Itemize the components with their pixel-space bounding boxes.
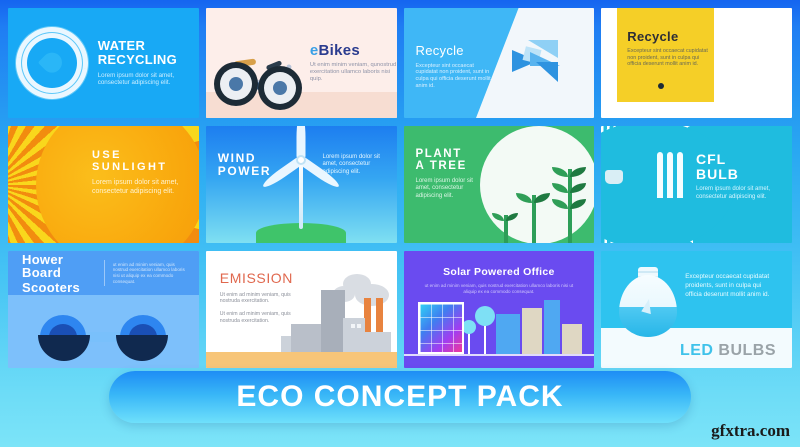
card-body: ut enim ad minim veniam, quis nostrud ex… bbox=[418, 283, 581, 294]
card-emission[interactable]: EMISSION Ut enim ad minim veniam, quis n… bbox=[206, 251, 397, 368]
card-title: eBikes bbox=[310, 43, 397, 59]
card-header-bar: Hower BoardScooters ut enim ad minim ven… bbox=[8, 251, 199, 295]
card-title-prefix: e bbox=[310, 42, 319, 59]
card-led-bulbs[interactable]: Excepteur occaecat cupidatat proidents, … bbox=[601, 251, 792, 368]
card-title: Solar Powered Office bbox=[404, 267, 595, 278]
card-text: WATERRECYCLING Lorem ipsum dolor sit ame… bbox=[96, 39, 177, 86]
card-text: EMISSION Ut enim ad minim veniam, quis n… bbox=[220, 271, 306, 324]
card-use-sunlight[interactable]: USESUNLIGHT Lorem ipsum dolor sit amet, … bbox=[8, 126, 199, 243]
banner-title: ECO CONCEPT PACK bbox=[236, 380, 563, 414]
card-ebikes[interactable]: eBikes Ut enim minim veniam, qunostrud e… bbox=[206, 8, 397, 118]
card-recycle-bin[interactable]: Recycle Excepteur sint occaecat cupidata… bbox=[601, 8, 792, 118]
card-cfl-bulb[interactable]: CFLBULB Lorem ipsum dolor sit amet, cons… bbox=[601, 126, 792, 243]
card-body: Lorem ipsum dolor sit amet, consectetur … bbox=[323, 154, 389, 176]
card-text: Recycle Excepteur sint occaecat cupidata… bbox=[615, 8, 716, 104]
card-title: Hower BoardScooters bbox=[22, 252, 96, 295]
card-body: Ut enim minim veniam, qunostrud exercita… bbox=[310, 62, 397, 83]
card-title: Recycle bbox=[416, 44, 496, 58]
card-text: Recycle Excepteur sint occaecat cupidata… bbox=[416, 44, 496, 89]
card-text: PLANTA TREE Lorem ipsum dolor sit amet, … bbox=[416, 148, 488, 200]
card-body: Lorem ipsum dolor sit amet, consectetur … bbox=[696, 186, 780, 201]
origami-bird-icon bbox=[506, 34, 580, 90]
card-body: ut enim ad minim veniam, quis nostrud ex… bbox=[113, 262, 185, 284]
hoverboard-icon bbox=[40, 315, 166, 359]
card-title: PLANTA TREE bbox=[416, 148, 488, 172]
card-wind-power[interactable]: WINDPOWER Lorem ipsum dolor sit amet, co… bbox=[206, 126, 397, 243]
card-title: USESUNLIGHT bbox=[92, 150, 188, 173]
card-solar-powered-office[interactable]: Solar Powered Office ut enim ad minim ve… bbox=[404, 251, 595, 368]
card-title: WATERRECYCLING bbox=[98, 39, 177, 66]
card-body: Ut enim ad minim veniam, quis nostruda e… bbox=[220, 292, 306, 305]
water-drop-recycle-icon bbox=[8, 8, 96, 118]
card-title: WINDPOWER bbox=[218, 152, 271, 177]
card-title: Recycle bbox=[627, 30, 714, 44]
card-body: Excepteur occaecat cupidatat proidents, … bbox=[685, 273, 777, 300]
card-title: EMISSION bbox=[220, 271, 306, 286]
card-recycle-bird[interactable]: Recycle Excepteur sint occaecat cupidata… bbox=[404, 8, 595, 118]
card-text: eBikes Ut enim minim veniam, qunostrud e… bbox=[310, 43, 397, 84]
cfl-bulb-icon bbox=[657, 152, 683, 208]
card-text: USESUNLIGHT Lorem ipsum dolor sit amet, … bbox=[92, 150, 188, 196]
card-body: Excepteur sint occaecat cupidatat non pr… bbox=[627, 48, 714, 68]
ground-strip bbox=[206, 352, 397, 368]
divider bbox=[104, 260, 105, 286]
card-body-2: Ut enim ad minim veniam, quis nostruda e… bbox=[220, 311, 306, 324]
card-title: LED BULBS bbox=[680, 343, 776, 360]
card-body: Excepteur sint occaecat cupidatat non pr… bbox=[416, 63, 496, 90]
watermark: gfxtra.com bbox=[711, 421, 790, 441]
card-text: CFLBULB Lorem ipsum dolor sit amet, cons… bbox=[696, 152, 780, 201]
card-body: Lorem ipsum dolor sit amet, consectetur … bbox=[98, 72, 176, 87]
card-grid: WATERRECYCLING Lorem ipsum dolor sit ame… bbox=[8, 8, 792, 368]
card-water-recycling[interactable]: WATERRECYCLING Lorem ipsum dolor sit ame… bbox=[8, 8, 199, 118]
bicycle-icon bbox=[206, 8, 310, 118]
card-body: Lorem ipsum dolor sit amet, consectetur … bbox=[416, 178, 488, 200]
eco-concept-pack-poster: WATERRECYCLING Lorem ipsum dolor sit ame… bbox=[0, 0, 800, 447]
card-title-prefix: LED bbox=[680, 342, 714, 359]
led-bulb-icon bbox=[619, 267, 677, 345]
card-title: CFLBULB bbox=[696, 152, 780, 181]
card-hover-board-scooters[interactable]: Hower BoardScooters ut enim ad minim ven… bbox=[8, 251, 199, 368]
card-plant-a-tree[interactable]: PLANTA TREE Lorem ipsum dolor sit amet, … bbox=[404, 126, 595, 243]
card-body: Lorem ipsum dolor sit amet, consectetur … bbox=[92, 179, 188, 196]
eco-concept-pack-banner: ECO CONCEPT PACK bbox=[109, 371, 691, 423]
bulb-base bbox=[605, 170, 623, 184]
card-text: WINDPOWER bbox=[218, 152, 271, 177]
